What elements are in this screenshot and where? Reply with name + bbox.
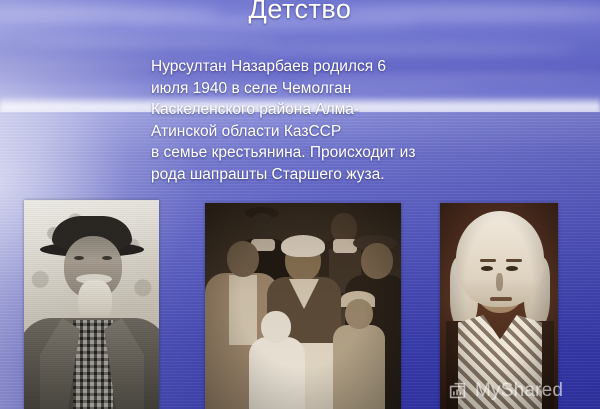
- photo-woman-headscarf: [440, 203, 558, 409]
- vignette-overlay: [440, 203, 558, 409]
- body-line: Нурсултан Назарбаев родился 6: [151, 56, 461, 78]
- vignette-overlay: [205, 203, 401, 409]
- photo-family-group: [205, 203, 401, 409]
- body-line: Каскеленского района Алма-: [151, 99, 461, 121]
- body-paragraph: Нурсултан Назарбаев родился 6 июля 1940 …: [151, 56, 461, 185]
- page-title: Детство: [0, 0, 600, 25]
- body-line: рода шапрашты Старшего жуза.: [151, 164, 461, 186]
- body-line: июля 1940 в селе Чемолган: [151, 78, 461, 100]
- body-line: в семье крестьянина. Происходит из: [151, 142, 461, 164]
- film-grain: [24, 200, 159, 409]
- photo-elderly-man: [24, 200, 159, 409]
- cloud-streak: [20, 38, 280, 47]
- body-line: Атинской области КазССР: [151, 121, 461, 143]
- presentation-slide: Детство Нурсултан Назарбаев родился 6 ию…: [0, 0, 600, 409]
- cloud-streak: [250, 44, 580, 55]
